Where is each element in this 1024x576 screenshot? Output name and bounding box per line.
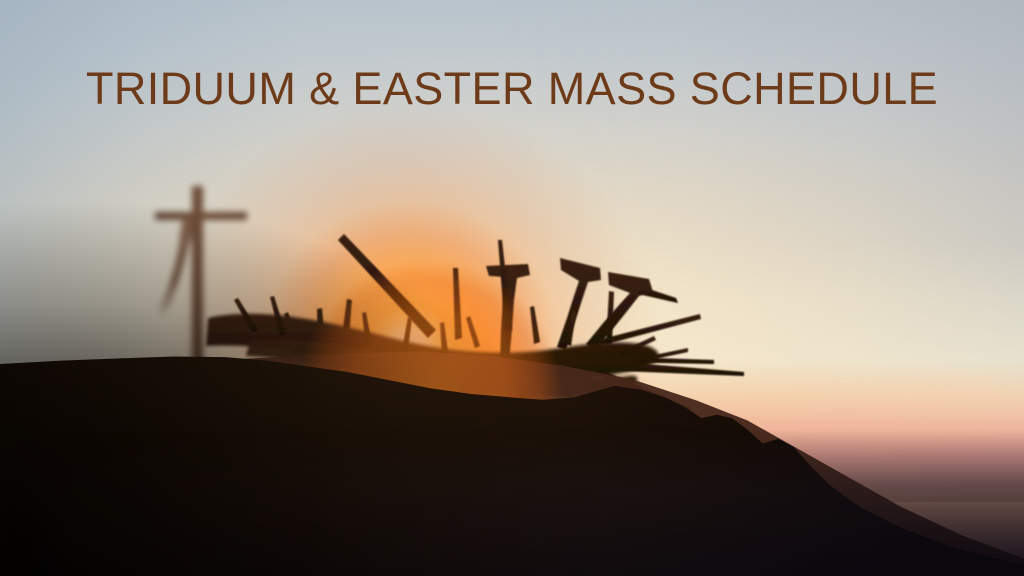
page-title: TRIDUUM & EASTER MASS SCHEDULE — [0, 66, 1024, 111]
easter-banner: TRIDUUM & EASTER MASS SCHEDULE — [0, 0, 1024, 576]
bottom-right-shadow — [0, 430, 1024, 576]
